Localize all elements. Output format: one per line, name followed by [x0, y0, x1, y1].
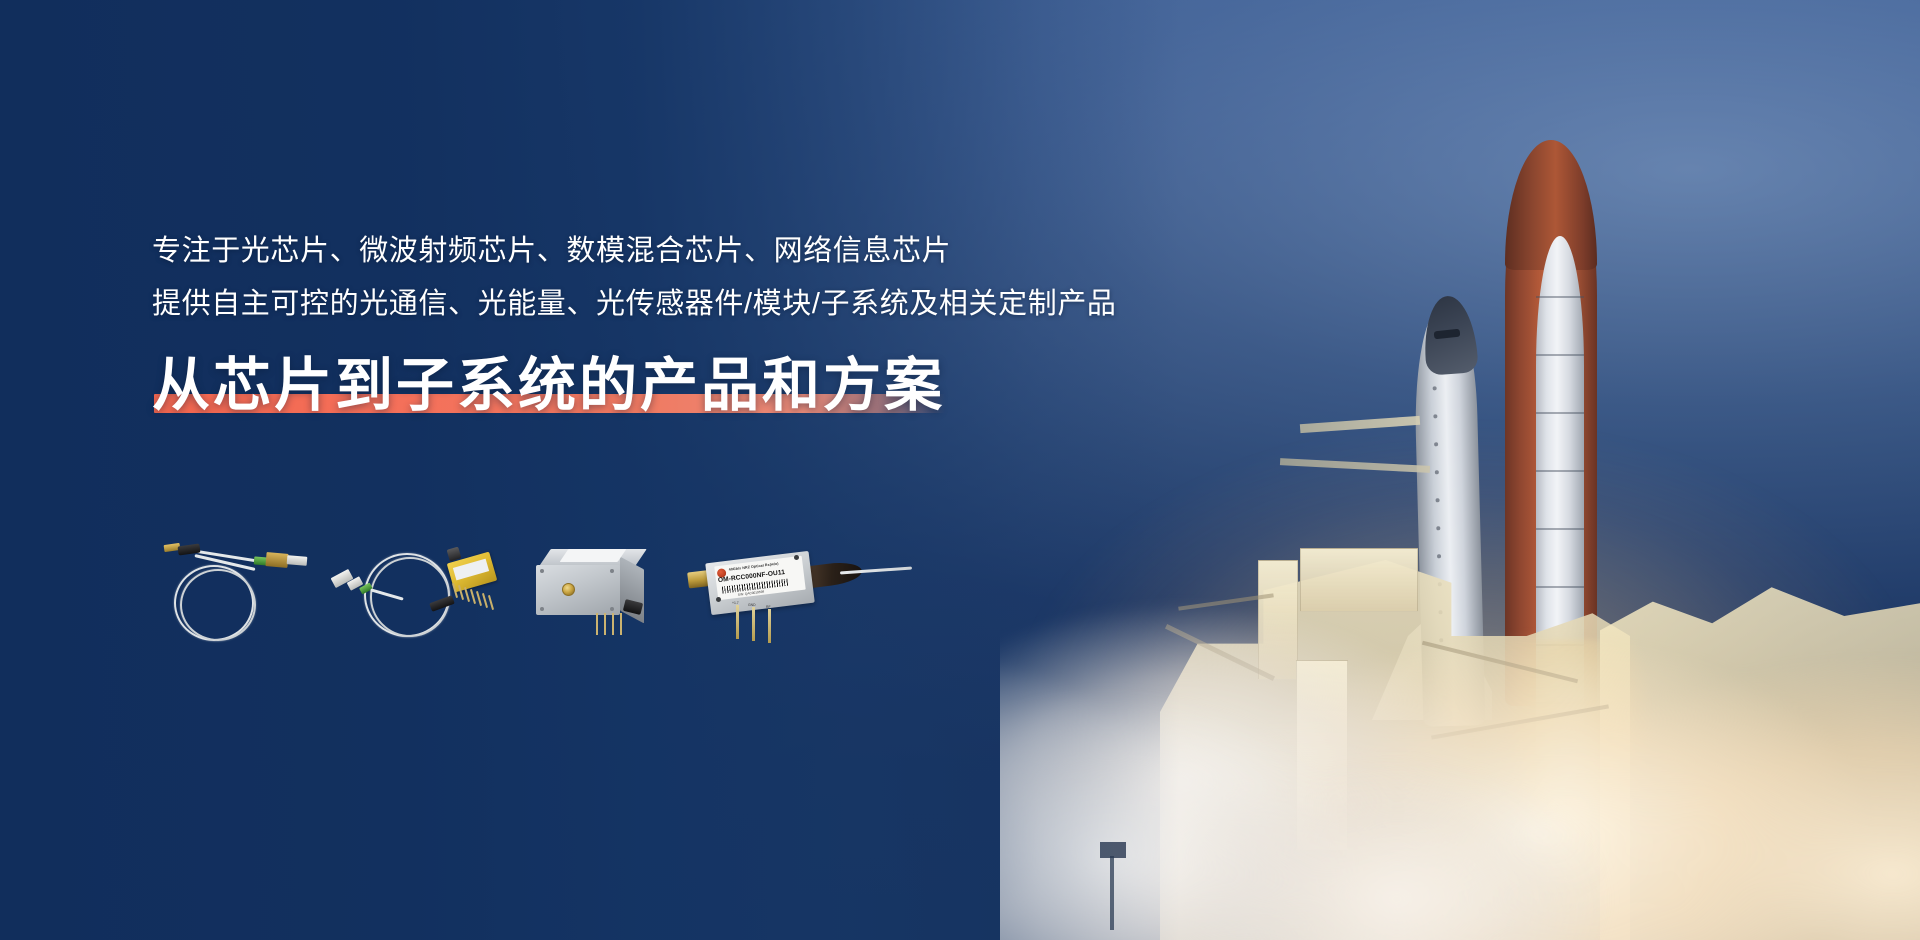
product-butterfly-laser-module	[318, 529, 518, 649]
subtitle-line-1: 专注于光芯片、微波射频芯片、数模混合芯片、网络信息芯片	[152, 228, 1152, 275]
product-fiber-optic-patch-cord	[160, 531, 320, 647]
product-optical-receiver-module: 40Gb/s NRZ Optical Rx(w/o) OM-RCC000NF-O…	[690, 535, 910, 647]
fiber-boot	[807, 560, 863, 588]
subtitle-line-2: 提供自主可控的光通信、光能量、光传感器件/模块/子系统及相关定制产品	[152, 281, 1152, 328]
product-rf-metal-housing-module	[536, 543, 666, 643]
product-image-strip: 40Gb/s NRZ Optical Rx(w/o) OM-RCC000NF-O…	[150, 525, 1030, 655]
hero-banner: 专注于光芯片、微波射频芯片、数模混合芯片、网络信息芯片 提供自主可控的光通信、光…	[0, 0, 1920, 940]
hero-text-block: 专注于光芯片、微波射频芯片、数模混合芯片、网络信息芯片 提供自主可控的光通信、光…	[152, 228, 1152, 419]
crew-access-arm	[1300, 416, 1420, 433]
blue-overlay-panel	[0, 0, 1180, 940]
page-title: 从芯片到子系统的产品和方案	[152, 354, 945, 419]
headline-wrapper: 从芯片到子系统的产品和方案	[152, 354, 945, 419]
service-arm	[1280, 458, 1430, 473]
